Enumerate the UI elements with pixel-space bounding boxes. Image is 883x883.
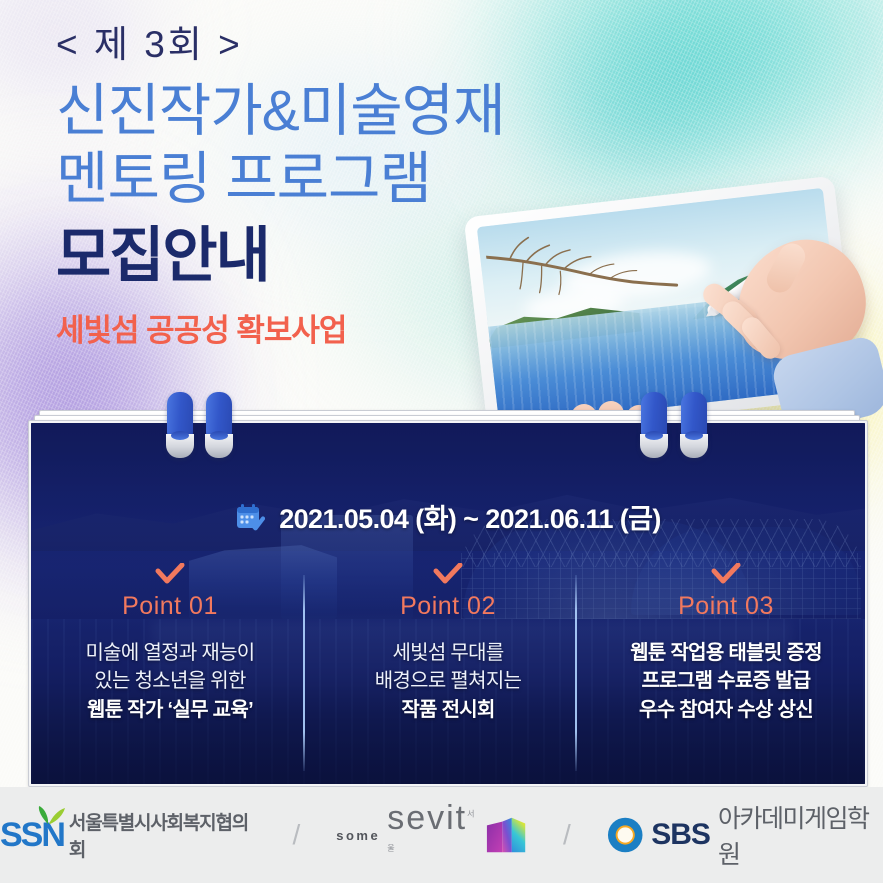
point-lines-2: 세빛섬 무대를 배경으로 펼쳐지는 작품 전시회 <box>375 639 521 724</box>
ssn-org-name: 서울특별시사회복지협의회 <box>69 808 257 862</box>
check-icon <box>711 563 741 585</box>
point-lines-1: 미술에 열정과 재능이 있는 청소년을 위한 웹툰 작가 ‘실무 교육’ <box>85 639 254 724</box>
title-line-1: 신진작가&미술영재 <box>56 78 616 146</box>
points-row: Point 01 미술에 열정과 재능이 있는 청소년을 위한 웹툰 작가 ‘실… <box>31 563 865 773</box>
sevit-word-text: sevit <box>387 799 467 837</box>
poster-root: < 제 3회 > 신진작가&미술영재 멘토링 프로그램 모집안내 세빛섬 공공성… <box>0 0 883 883</box>
hand-drawing-icon <box>695 236 871 408</box>
column-divider <box>575 575 577 771</box>
point-text-line: 미술에 열정과 재능이 <box>85 639 254 667</box>
point-text-line: 프로그램 수료증 발급 <box>630 667 822 695</box>
point-text-line: 웹툰 작업용 태블릿 증정 <box>630 639 822 667</box>
edition-label: < 제 3회 > <box>56 22 616 68</box>
point-text-line: 배경으로 펼쳐지는 <box>375 667 521 695</box>
point-lines-3: 웹툰 작업용 태블릿 증정 프로그램 수료증 발급 우수 참여자 수상 상신 <box>630 639 822 724</box>
info-card: 2021.05.04 (화) ~ 2021.06.11 (금) Point 01… <box>28 410 868 787</box>
leaf-icon <box>32 805 66 825</box>
logo-separator: / <box>292 819 300 851</box>
sbs-ring-icon <box>607 816 643 854</box>
point-label-3: Point 03 <box>678 592 774 621</box>
ssn-wordmark: SSN <box>0 818 64 852</box>
sevit-prefix: some <box>336 828 380 843</box>
dark-content-panel: 2021.05.04 (화) ~ 2021.06.11 (금) Point 01… <box>31 423 865 784</box>
column-divider <box>303 575 305 771</box>
logo-sevit: some sevit서울 <box>336 801 527 869</box>
logo-sbs: SBS 아카데미게임학원 <box>607 799 883 871</box>
sbs-brand: SBS <box>651 818 710 852</box>
date-range-text: 2021.05.04 (화) ~ 2021.06.11 (금) <box>279 497 661 536</box>
subtitle: 세빛섬 공공성 확보사업 <box>56 305 616 350</box>
point-text-line: 웹툰 작가 ‘실무 교육’ <box>85 696 254 724</box>
point-column-3: Point 03 웹툰 작업용 태블릿 증정 프로그램 수료증 발급 우수 참여… <box>587 563 865 724</box>
point-column-1: Point 01 미술에 열정과 재능이 있는 청소년을 위한 웹툰 작가 ‘실… <box>31 563 309 724</box>
check-icon <box>155 563 185 585</box>
calendar-check-icon <box>235 502 265 532</box>
footer-logo-bar: SSN 서울특별시사회복지협의회 / some sevit서울 <box>0 787 883 883</box>
sevit-gradient-mark-icon <box>485 815 527 855</box>
sbs-academy-name: 아카데미게임학원 <box>718 799 883 871</box>
point-column-2: Point 02 세빛섬 무대를 배경으로 펼쳐지는 작품 전시회 <box>309 563 587 724</box>
poster-header: < 제 3회 > 신진작가&미술영재 멘토링 프로그램 모집안내 세빛섬 공공성… <box>56 22 616 350</box>
logo-ssn: SSN 서울특별시사회복지협의회 <box>0 808 256 862</box>
point-label-2: Point 02 <box>400 592 496 621</box>
date-bar: 2021.05.04 (화) ~ 2021.06.11 (금) <box>31 497 865 536</box>
title-line-2: 멘토링 프로그램 <box>56 146 616 214</box>
logo-separator: / <box>563 819 571 851</box>
check-icon <box>433 563 463 585</box>
page-title: 모집안내 <box>56 223 616 289</box>
point-label-1: Point 01 <box>122 592 218 621</box>
point-text-line: 있는 청소년을 위한 <box>85 667 254 695</box>
sevit-wordmark: sevit서울 <box>387 801 478 869</box>
point-text-line: 우수 참여자 수상 상신 <box>630 696 822 724</box>
point-text-line: 세빛섬 무대를 <box>375 639 521 667</box>
point-text-line: 작품 전시회 <box>375 696 521 724</box>
